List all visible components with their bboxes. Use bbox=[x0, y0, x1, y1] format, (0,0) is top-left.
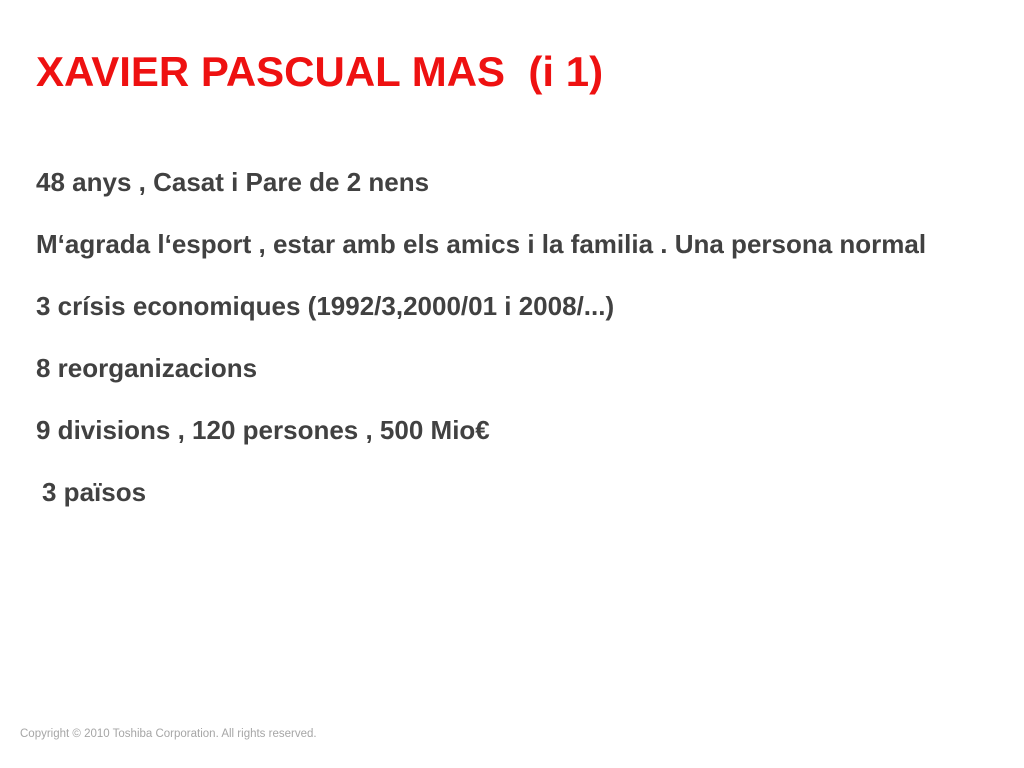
body-line-countries: 3 països bbox=[36, 476, 986, 509]
body-line-reorganizations: 8 reorganizacions bbox=[36, 352, 986, 385]
body-line-age-family: 48 anys , Casat i Pare de 2 nens bbox=[36, 166, 986, 199]
slide-body: 48 anys , Casat i Pare de 2 nens M‘agrad… bbox=[36, 166, 986, 538]
body-line-divisions: 9 divisions , 120 persones , 500 Mio€ bbox=[36, 414, 986, 447]
body-line-interests: M‘agrada l‘esport , estar amb els amics … bbox=[36, 228, 951, 261]
slide: XAVIER PASCUAL MAS (i 1) 48 anys , Casat… bbox=[0, 0, 1024, 768]
body-line-crises: 3 crísis economiques (1992/3,2000/01 i 2… bbox=[36, 290, 986, 323]
page-title: XAVIER PASCUAL MAS (i 1) bbox=[36, 48, 603, 96]
copyright-footer: Copyright © 2010 Toshiba Corporation. Al… bbox=[20, 727, 317, 741]
